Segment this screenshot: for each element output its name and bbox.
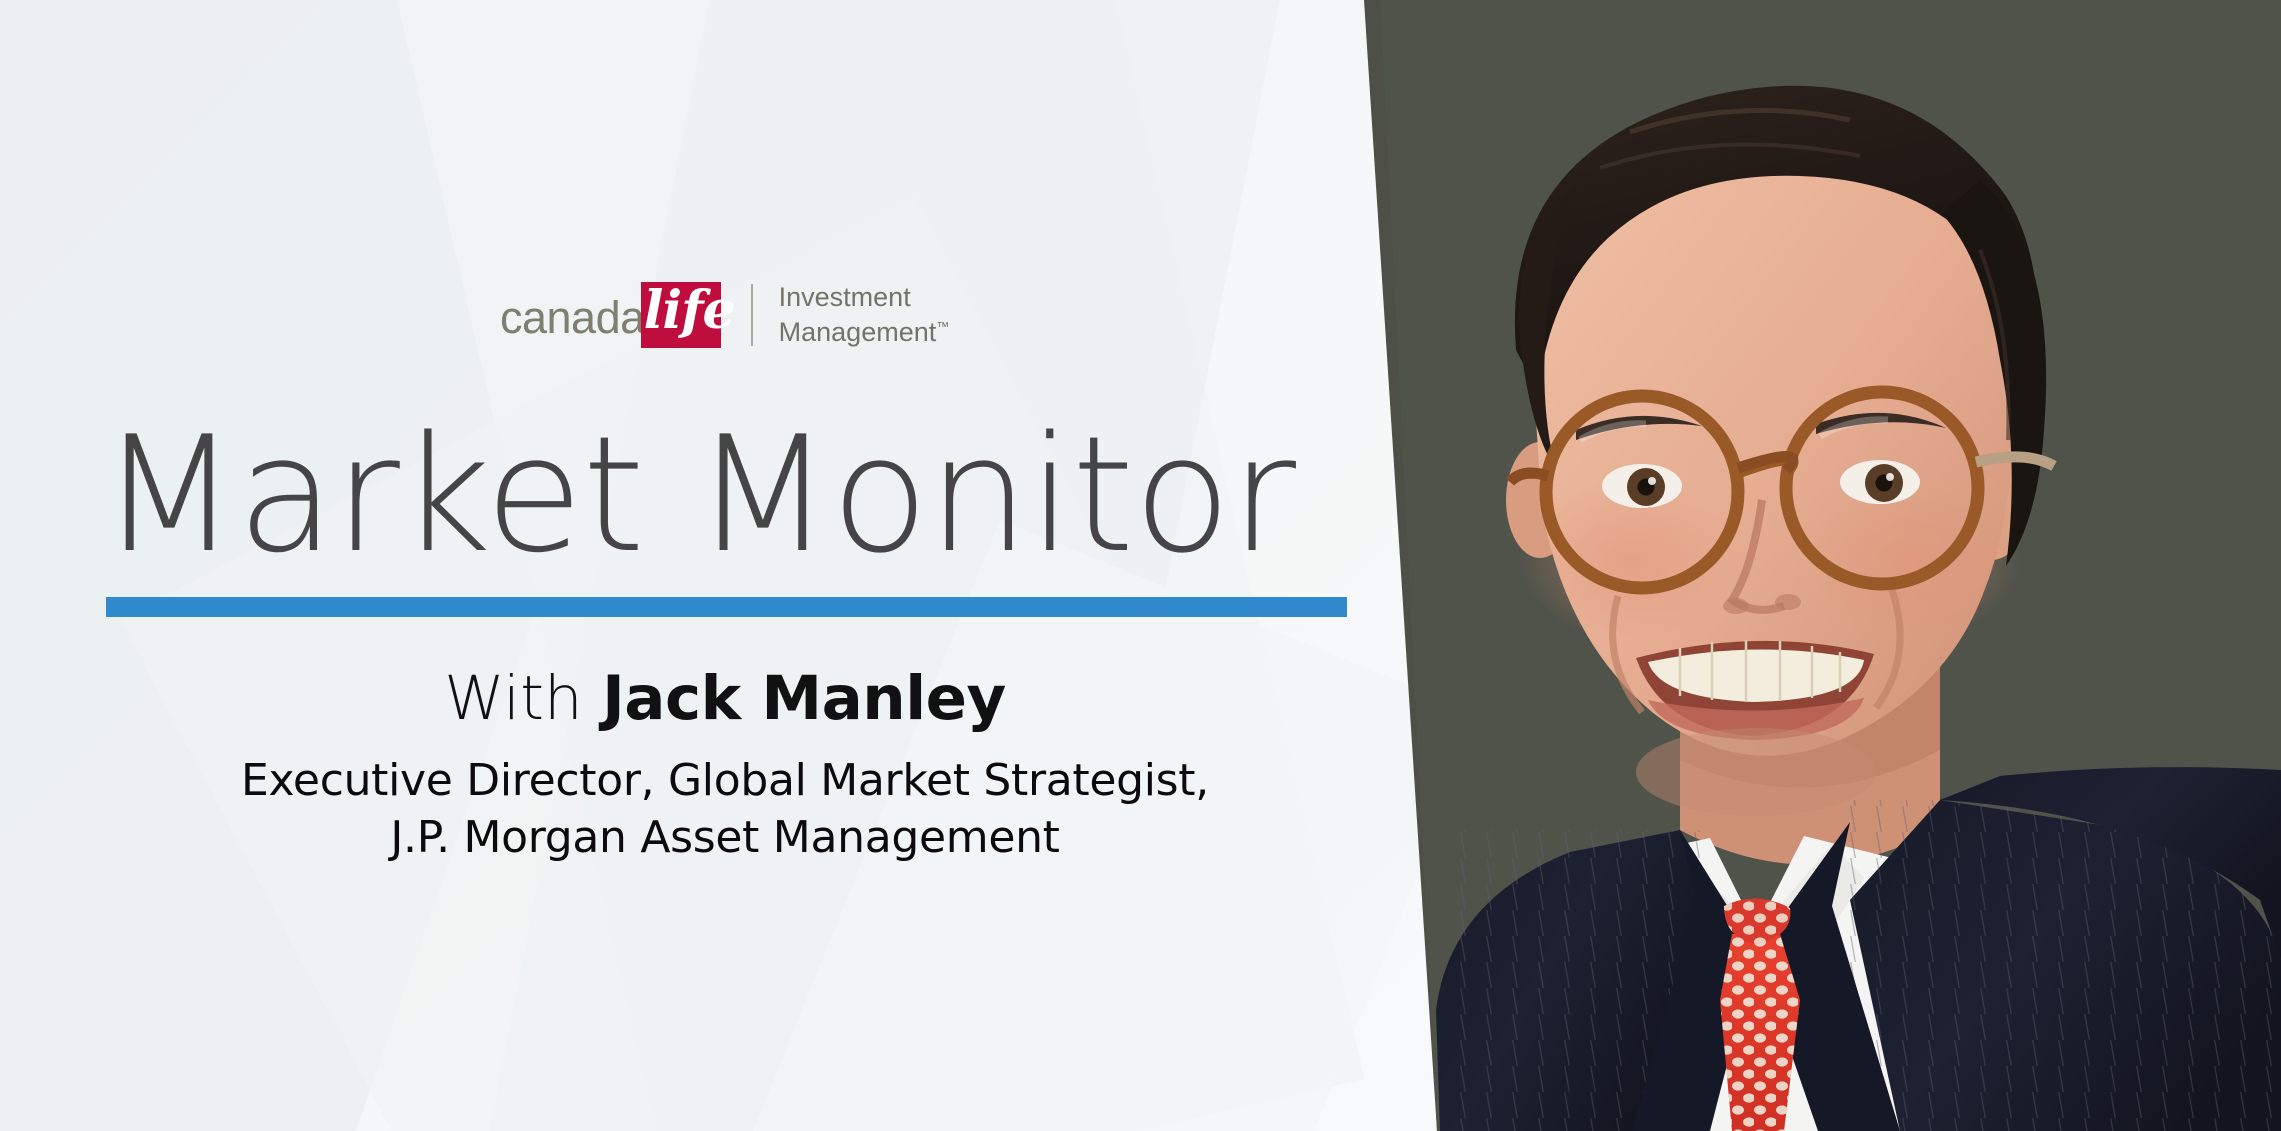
logo-subbrand-line2: Management bbox=[779, 317, 937, 347]
speaker-role-line1: Executive Director, Global Market Strate… bbox=[100, 753, 1350, 809]
logo-life-text: life bbox=[644, 278, 735, 344]
logo-wordmark: canada bbox=[500, 295, 645, 340]
speaker-name-line: With Jack Manley bbox=[100, 665, 1350, 733]
speaker-role: Executive Director, Global Market Strate… bbox=[100, 753, 1350, 866]
logo-divider bbox=[751, 284, 753, 346]
portrait-photo bbox=[1380, 0, 2281, 1131]
trademark-symbol: ™ bbox=[936, 319, 949, 334]
logo-subbrand-line1: Investment bbox=[779, 282, 911, 312]
logo-life-mark: life bbox=[641, 282, 721, 348]
speaker-role-line2: J.P. Morgan Asset Management bbox=[100, 810, 1350, 866]
logo-subbrand: Investment Management™ bbox=[779, 280, 950, 349]
canada-life-logo: canada life Investment Management™ bbox=[500, 282, 949, 348]
speaker-block: With Jack Manley Executive Director, Glo… bbox=[100, 665, 1350, 866]
page-title: Market Monitor bbox=[100, 415, 1360, 575]
speaker-name: Jack Manley bbox=[602, 663, 1006, 734]
title-underline bbox=[106, 597, 1347, 617]
market-monitor-banner: canada life Investment Management™ Marke… bbox=[0, 0, 2281, 1131]
with-label: With bbox=[444, 663, 583, 734]
